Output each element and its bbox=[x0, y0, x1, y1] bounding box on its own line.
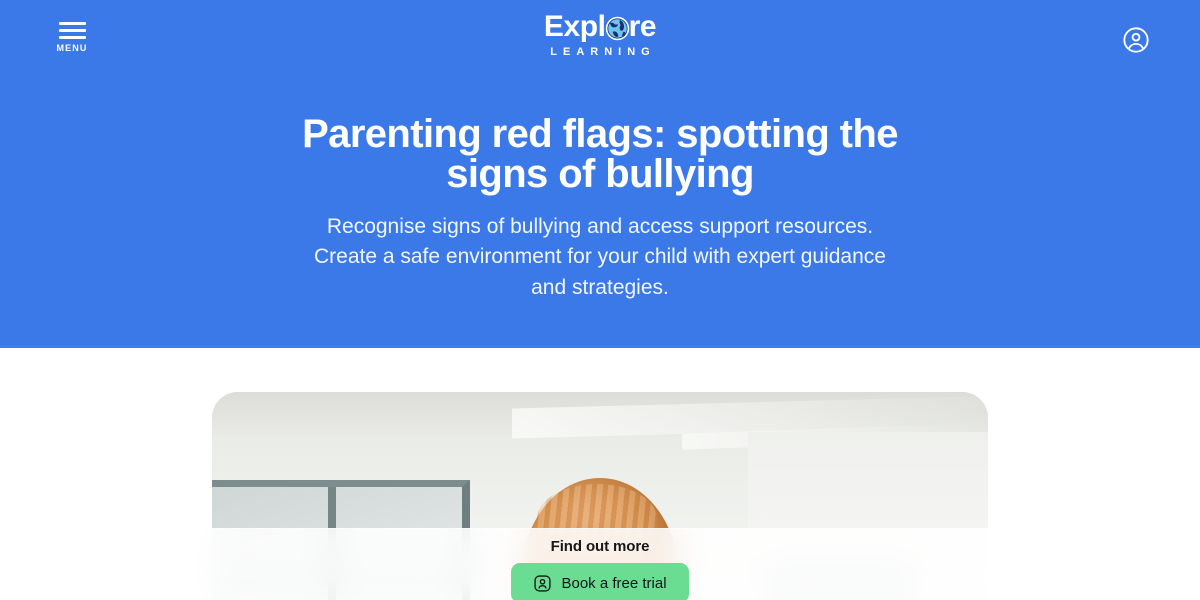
logo-word-after: re bbox=[629, 10, 657, 43]
logo-wordmark: Expl re bbox=[544, 12, 656, 42]
account-circle-icon bbox=[1122, 41, 1150, 58]
sticky-cta-bar: Find out more Book a free trial bbox=[0, 528, 1200, 600]
logo-word-before: Expl bbox=[544, 10, 606, 43]
logo-subtitle: LEARNING bbox=[500, 47, 700, 58]
book-free-trial-label: Book a free trial bbox=[561, 576, 666, 591]
globe-icon bbox=[605, 16, 630, 41]
site-logo[interactable]: Expl re LEARNING bbox=[500, 12, 700, 58]
page-title: Parenting red flags: spotting the signs … bbox=[250, 114, 950, 194]
hero-banner: MENU Expl re LEARNING bbox=[0, 0, 1200, 348]
menu-button[interactable]: MENU bbox=[52, 22, 92, 53]
menu-button-label: MENU bbox=[57, 44, 88, 53]
hamburger-bar-2 bbox=[59, 29, 86, 32]
page-subtitle: Recognise signs of bullying and access s… bbox=[310, 212, 890, 303]
book-free-trial-button[interactable]: Book a free trial bbox=[511, 563, 688, 600]
account-button[interactable] bbox=[1122, 26, 1150, 54]
book-trial-icon bbox=[533, 574, 552, 593]
cta-heading: Find out more bbox=[0, 539, 1200, 554]
hamburger-icon bbox=[59, 22, 86, 39]
hamburger-bar-1 bbox=[59, 22, 86, 25]
top-navigation-bar: MENU Expl re LEARNING bbox=[0, 0, 1200, 78]
hamburger-bar-3 bbox=[59, 36, 86, 39]
